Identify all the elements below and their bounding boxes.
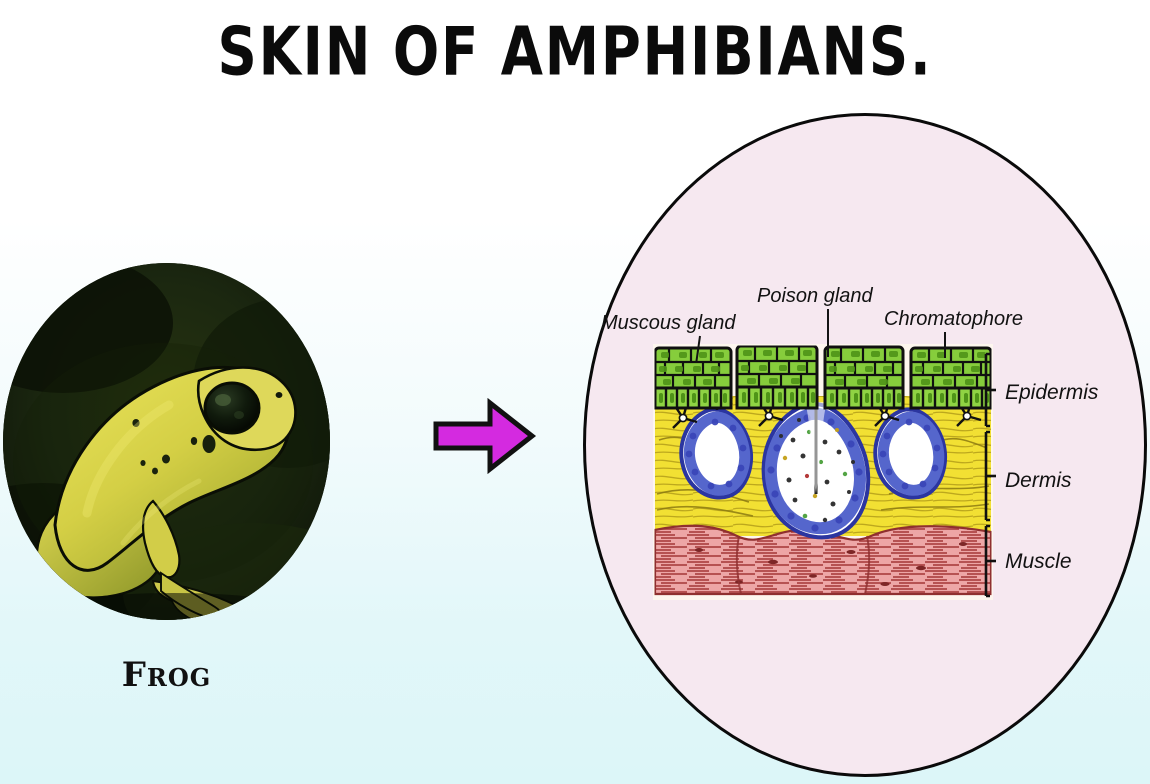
frog-photo [3, 263, 330, 620]
right-arrow-icon [432, 398, 538, 474]
callout-muscous-gland: Muscous gland [601, 312, 736, 335]
layer-label-epidermis: Epidermis [1005, 381, 1098, 405]
layer-label-muscle: Muscle [1005, 550, 1072, 574]
callout-poison-gland: Poison gland [757, 285, 873, 308]
frog-caption: Frog [3, 655, 330, 695]
slide-canvas: SKIN OF AMPHIBIANS. [0, 0, 1150, 784]
skin-cross-section-figure [653, 344, 993, 600]
callout-chromatophore: Chromatophore [884, 308, 1023, 331]
layer-label-dermis: Dermis [1005, 469, 1072, 493]
leader-line-poison-gland [827, 309, 829, 357]
page-title: SKIN OF AMPHIBIANS. [69, 12, 1081, 91]
layer-brackets [984, 350, 1004, 600]
frog-illustration [3, 263, 330, 620]
leader-line-chromatophore [944, 332, 946, 358]
